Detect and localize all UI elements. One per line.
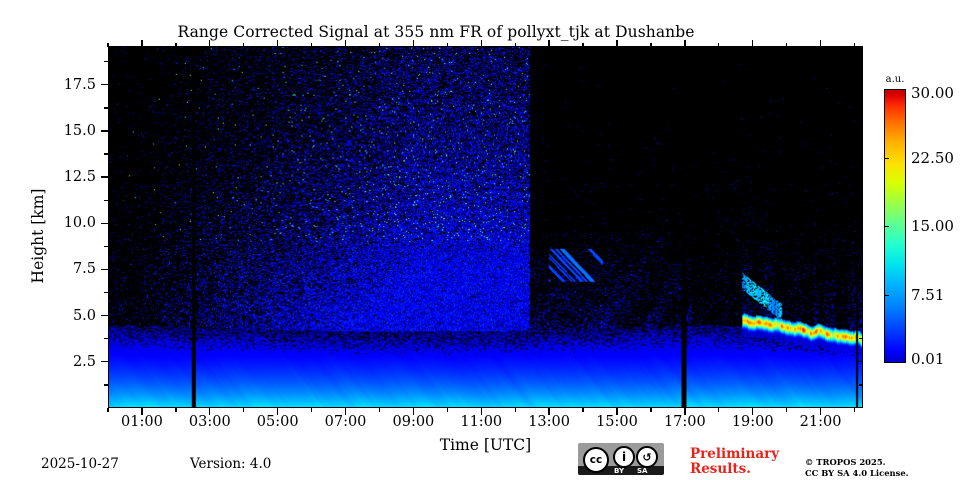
footer-version: Version: 4.0 — [190, 456, 271, 472]
share-alike-icon: ↺ — [636, 446, 658, 468]
y-axis-tick-label: 17.5 — [64, 77, 96, 93]
y-axis-tick-left — [101, 223, 108, 224]
x-axis-minor-tick-top — [447, 43, 448, 47]
y-axis-minor-tick-left — [104, 153, 108, 154]
y-axis-tick-right — [856, 269, 863, 270]
page-title: Range Corrected Signal at 355 nm FR of p… — [0, 23, 872, 41]
colorbar-tick-label: 22.50 — [911, 149, 954, 167]
sa-label: SA — [637, 467, 647, 475]
x-axis-tick-label: 15:00 — [596, 414, 638, 430]
x-axis-minor-tick-bottom — [786, 408, 787, 412]
x-axis-tick-label: 17:00 — [664, 414, 706, 430]
x-axis-minor-tick-top — [243, 43, 244, 47]
plot-area — [108, 46, 863, 408]
y-axis-minor-tick-left — [104, 246, 108, 247]
y-axis-minor-tick-right — [859, 107, 863, 108]
y-axis-tick-label: 5.0 — [73, 308, 96, 324]
y-axis-tick-left — [101, 361, 108, 362]
y-axis-minor-tick-left — [104, 338, 108, 339]
x-axis-minor-tick-top — [718, 43, 719, 47]
quicklook-figure: Range Corrected Signal at 355 nm FR of p… — [0, 0, 960, 480]
colorbar-unit-label: a.u. — [884, 74, 906, 85]
heatmap-canvas-layer — [109, 47, 862, 407]
colorbar-tick-label: 7.51 — [911, 286, 944, 304]
y-axis-minor-tick-right — [859, 292, 863, 293]
y-axis-tick-label: 7.5 — [73, 261, 96, 277]
x-axis-minor-tick-top — [582, 43, 583, 47]
x-axis-tick-label: 01:00 — [121, 414, 163, 430]
y-axis-tick-left — [101, 176, 108, 177]
y-axis-minor-tick-right — [859, 200, 863, 201]
y-axis-minor-tick-right — [859, 246, 863, 247]
x-axis-tick-top — [616, 40, 617, 47]
creative-commons-badge[interactable]: cc i ↺ BY SA — [578, 443, 664, 475]
colorbar-tick-label: 30.00 — [911, 84, 954, 102]
x-axis-tick-label: 03:00 — [189, 414, 231, 430]
colorbar-tick-label: 0.01 — [911, 350, 944, 368]
copyright-line-1: © TROPOS 2025. — [805, 457, 909, 468]
x-axis-tick-top — [345, 40, 346, 47]
x-axis-tick-label: 07:00 — [325, 414, 367, 430]
x-axis-tick-label: 09:00 — [392, 414, 434, 430]
x-axis-minor-tick-bottom — [175, 408, 176, 412]
x-axis-tick-top — [752, 40, 753, 47]
by-label: BY — [614, 467, 624, 475]
x-axis-minor-tick-top — [175, 43, 176, 47]
y-axis-tick-left — [101, 130, 108, 131]
y-axis-tick-left — [101, 84, 108, 85]
x-axis-tick-label: 13:00 — [528, 414, 570, 430]
y-axis-minor-tick-left — [104, 292, 108, 293]
x-axis-minor-tick-bottom — [379, 408, 380, 412]
y-axis-tick-right — [856, 223, 863, 224]
y-axis-tick-left — [101, 269, 108, 270]
x-axis-minor-tick-bottom — [243, 408, 244, 412]
copyright-line-2: CC BY SA 4.0 License. — [805, 468, 909, 479]
x-axis-minor-tick-bottom — [311, 408, 312, 412]
footer-date: 2025-10-27 — [41, 456, 119, 472]
x-axis-tick-label: 05:00 — [257, 414, 299, 430]
y-axis-minor-tick-left — [104, 384, 108, 385]
cc-icon: cc — [583, 447, 609, 473]
x-axis-tick-label: 21:00 — [800, 414, 842, 430]
y-axis-tick-label: 2.5 — [73, 354, 96, 370]
range-corrected-signal-heatmap — [109, 47, 862, 407]
x-axis-minor-tick-bottom — [447, 408, 448, 412]
y-axis-minor-tick-right — [859, 61, 863, 62]
y-axis-label: Height [km] — [29, 136, 47, 336]
x-axis-tick-top — [548, 40, 549, 47]
attribution-by-icon: i — [613, 446, 635, 468]
copyright-notice: © TROPOS 2025. CC BY SA 4.0 License. — [805, 457, 909, 479]
y-axis-tick-right — [856, 176, 863, 177]
y-axis-minor-tick-left — [104, 200, 108, 201]
y-axis-minor-tick-left — [104, 107, 108, 108]
y-axis-tick-left — [101, 315, 108, 316]
x-axis-minor-tick-bottom — [107, 408, 108, 412]
x-axis-tick-top — [413, 40, 414, 47]
x-axis-tick-top — [684, 40, 685, 47]
y-axis-minor-tick-right — [859, 338, 863, 339]
x-axis-tick-top — [141, 40, 142, 47]
x-axis-minor-tick-bottom — [515, 408, 516, 412]
x-axis-tick-label: 11:00 — [460, 414, 502, 430]
colorbar-tick — [884, 226, 889, 227]
x-axis-tick-label: 19:00 — [732, 414, 774, 430]
x-axis-minor-tick-bottom — [854, 408, 855, 412]
x-axis-minor-tick-bottom — [718, 408, 719, 412]
x-axis-minor-tick-top — [786, 43, 787, 47]
y-axis-tick-right — [856, 130, 863, 131]
x-axis-minor-tick-top — [379, 43, 380, 47]
x-axis-tick-top — [820, 40, 821, 47]
y-axis-tick-right — [856, 84, 863, 85]
y-axis-tick-right — [856, 315, 863, 316]
x-axis-tick-top — [481, 40, 482, 47]
x-axis-tick-top — [277, 40, 278, 47]
x-axis-minor-tick-bottom — [650, 408, 651, 412]
colorbar-tick-label: 15.00 — [911, 217, 954, 235]
x-axis-minor-tick-top — [854, 43, 855, 47]
x-axis-minor-tick-top — [650, 43, 651, 47]
y-axis-minor-tick-right — [859, 384, 863, 385]
y-axis-minor-tick-left — [104, 61, 108, 62]
x-axis-minor-tick-top — [107, 43, 108, 47]
y-axis-tick-label: 12.5 — [64, 169, 96, 185]
x-axis-tick-top — [209, 40, 210, 47]
y-axis-tick-right — [856, 361, 863, 362]
colorbar-tick — [884, 158, 889, 159]
preliminary-results-notice: Preliminary Results. — [690, 447, 800, 477]
y-axis-minor-tick-right — [859, 153, 863, 154]
y-axis-tick-label: 10.0 — [64, 215, 96, 231]
colorbar-tick — [884, 295, 889, 296]
x-axis-minor-tick-top — [311, 43, 312, 47]
x-axis-minor-tick-top — [515, 43, 516, 47]
x-axis-minor-tick-bottom — [582, 408, 583, 412]
y-axis-tick-label: 15.0 — [64, 123, 96, 139]
